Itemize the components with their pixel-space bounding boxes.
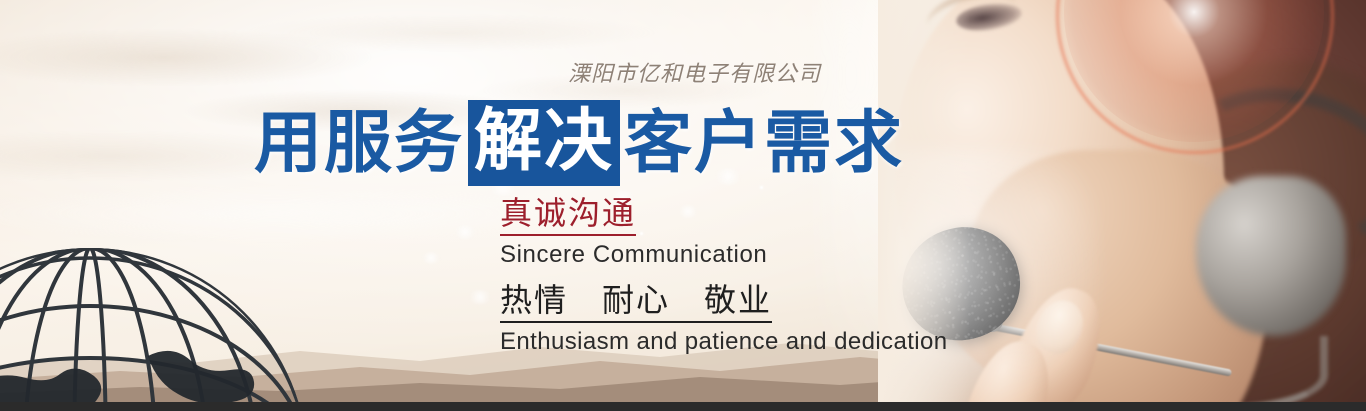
- slogan-cn-sincere: 真诚沟通: [500, 196, 636, 236]
- text-layer: 溧阳市亿和电子有限公司 用服务 解决 客户需求 真诚沟通 Sincere Com…: [0, 0, 1366, 411]
- bottom-bar: [0, 402, 1366, 411]
- headline-prefix: 用服务: [254, 109, 464, 177]
- slogan-en-sincere: Sincere Communication: [500, 241, 948, 269]
- slogan-cn-enthusiasm: 热情 耐心 敬业: [500, 283, 772, 323]
- slogan-row-1: 真诚沟通 Sincere Communication: [500, 196, 948, 269]
- slogan-en-enthusiasm: Enthusiasm and patience and dedication: [500, 328, 948, 356]
- headline-highlight: 解决: [468, 100, 620, 186]
- headline: 用服务 解决 客户需求: [254, 100, 904, 186]
- promo-banner: 溧阳市亿和电子有限公司 用服务 解决 客户需求 真诚沟通 Sincere Com…: [0, 0, 1366, 411]
- headline-suffix: 客户需求: [624, 109, 904, 177]
- company-name: 溧阳市亿和电子有限公司: [568, 56, 821, 88]
- slogan-block: 真诚沟通 Sincere Communication 热情 耐心 敬业 Enth…: [500, 196, 948, 356]
- slogan-row-2: 热情 耐心 敬业 Enthusiasm and patience and ded…: [500, 269, 948, 356]
